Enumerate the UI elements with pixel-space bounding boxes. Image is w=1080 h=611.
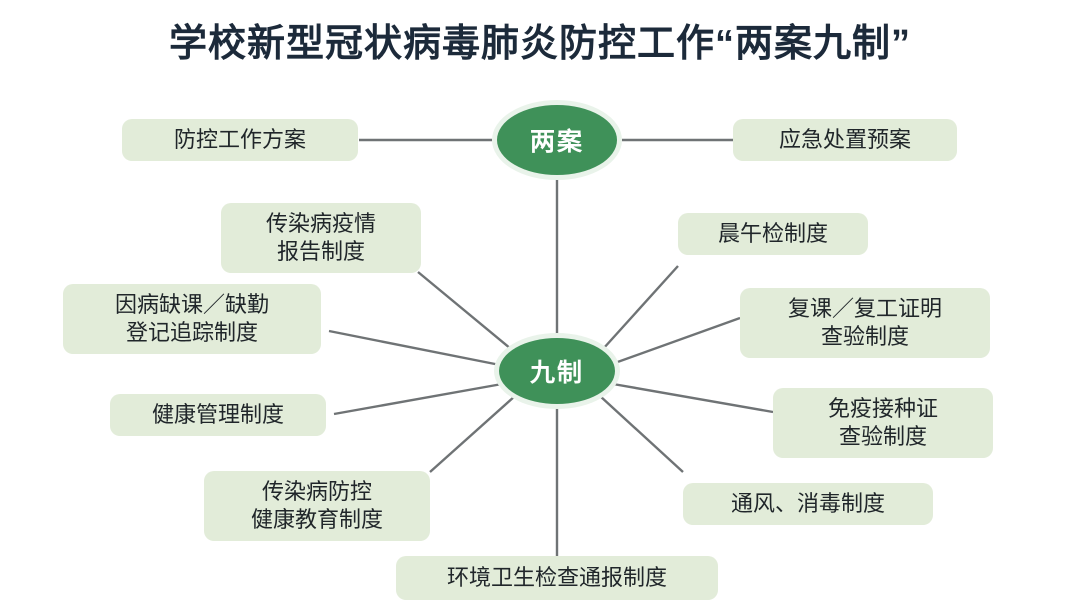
node-jiankang-guanli[interactable]: 健康管理制度	[110, 394, 326, 436]
node-yinbing-quieke-dengji[interactable]: 因病缺课／缺勤 登记追踪制度	[63, 284, 321, 354]
node-line: 因病缺课／缺勤	[115, 291, 269, 319]
node-line: 健康教育制度	[251, 506, 383, 534]
node-line: 复课／复工证明	[788, 295, 942, 323]
node-line: 免疫接种证	[828, 395, 938, 423]
node-line: 传染病疫情	[266, 210, 376, 238]
node-line: 环境卫生检查通报制度	[447, 564, 667, 592]
hub-liangan-label: 两案	[530, 122, 584, 158]
node-line: 应急处置预案	[779, 126, 911, 154]
node-fuke-fugong-chayan[interactable]: 复课／复工证明 查验制度	[740, 288, 990, 358]
diagram-canvas: 学校新型冠状病毒肺炎防控工作“两案九制” 两案 九制	[0, 0, 1080, 611]
edge-jiuzhi-to-chuanranbing-fangkong-jiaoyu	[430, 396, 515, 472]
node-line: 查验制度	[821, 323, 909, 351]
node-line: 报告制度	[277, 238, 365, 266]
node-line: 健康管理制度	[152, 401, 284, 429]
edge-jiuzhi-to-jiankang-guanli	[334, 384, 502, 414]
node-line: 查验制度	[839, 423, 927, 451]
node-chuanranbing-fangkong-jiaoyu[interactable]: 传染病防控 健康教育制度	[204, 471, 430, 541]
edge-jiuzhi-to-chuanranbing-yiqing-baogao	[418, 272, 511, 349]
node-line: 通风、消毒制度	[731, 490, 885, 518]
edge-jiuzhi-to-fuke-fugong-chayan	[612, 318, 740, 364]
hub-jiuzhi[interactable]: 九制	[499, 338, 615, 404]
node-mianyi-jiezhongzheng-chayan[interactable]: 免疫接种证 查验制度	[773, 388, 993, 458]
node-fangkong-gongzuo-fangan[interactable]: 防控工作方案	[122, 119, 358, 161]
node-huanjing-weisheng-tongbao[interactable]: 环境卫生检查通报制度	[396, 556, 718, 600]
hub-jiuzhi-label: 九制	[530, 353, 584, 389]
edge-jiuzhi-to-chuanranbing-fangkong-jiaoyu-right	[600, 396, 683, 472]
node-line: 防控工作方案	[174, 126, 306, 154]
hub-liangan[interactable]: 两案	[497, 105, 617, 175]
node-line: 登记追踪制度	[126, 319, 258, 347]
edge-jiuzhi-to-chenwujian	[603, 266, 678, 349]
edge-jiuzhi-to-yinbing-quieke-dengji	[329, 331, 500, 365]
node-line: 晨午检制度	[718, 220, 828, 248]
node-line: 传染病防控	[262, 478, 372, 506]
node-chenwujian[interactable]: 晨午检制度	[678, 213, 868, 255]
edge-jiuzhi-to-mianyi-jiezhongzheng-chayan	[613, 384, 773, 412]
node-yingji-chuzhi-yuan[interactable]: 应急处置预案	[733, 119, 957, 161]
node-chuanranbing-yiqing-baogao[interactable]: 传染病疫情 报告制度	[221, 203, 421, 273]
node-tongfeng-xiaodu[interactable]: 通风、消毒制度	[683, 483, 933, 525]
